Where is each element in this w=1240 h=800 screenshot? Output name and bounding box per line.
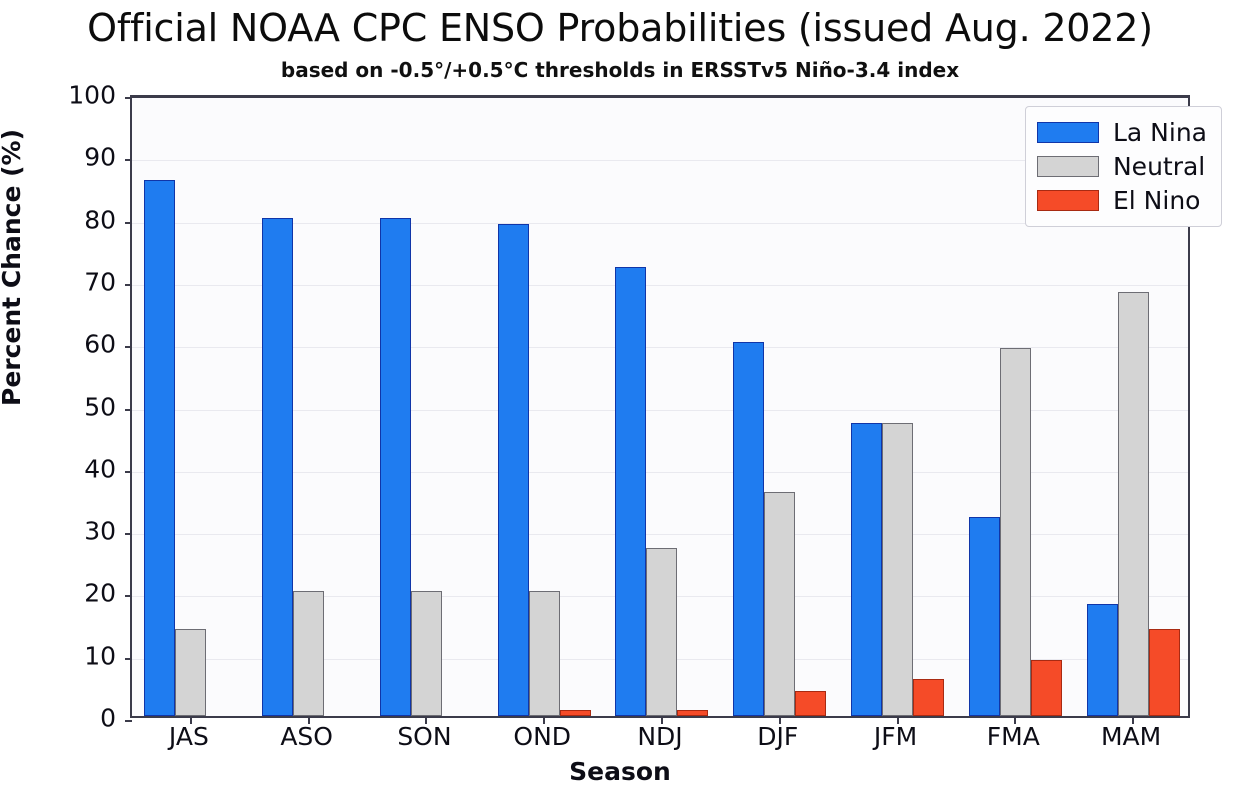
- bar-lanina-djf: [733, 342, 764, 716]
- y-tick-label: 50: [84, 392, 116, 421]
- bar-neutral-jas: [175, 629, 206, 716]
- x-axis-tick-labels: JASASOSONONDNDJDJFJFMFMAMAM: [130, 722, 1190, 762]
- y-tick-label: 10: [84, 641, 116, 670]
- x-tick-label-jfm: JFM: [874, 722, 917, 751]
- legend-item-neutral[interactable]: Neutral: [1037, 149, 1207, 183]
- bar-group: [368, 98, 486, 716]
- bar-neutral-aso: [293, 591, 324, 716]
- legend-label-lanina: La Nina: [1113, 118, 1207, 147]
- legend-item-lanina[interactable]: La Nina: [1037, 115, 1207, 149]
- bar-lanina-aso: [262, 218, 293, 716]
- bar-neutral-djf: [764, 492, 795, 716]
- y-tick: [125, 97, 132, 99]
- bar-neutral-ond: [529, 591, 560, 716]
- x-tick-label-son: SON: [397, 722, 451, 751]
- y-tick-label: 80: [84, 205, 116, 234]
- x-tick-label-ond: OND: [513, 722, 571, 751]
- y-tick-label: 70: [84, 267, 116, 296]
- legend-label-neutral: Neutral: [1113, 152, 1205, 181]
- legend-item-elnino[interactable]: El Nino: [1037, 183, 1207, 217]
- y-tick-label: 100: [68, 81, 116, 110]
- y-tick-label: 20: [84, 579, 116, 608]
- bar-group: [603, 98, 721, 716]
- bar-group: [485, 98, 603, 716]
- y-axis-title: Percent Chance (%): [0, 129, 26, 406]
- bar-lanina-son: [380, 218, 411, 716]
- y-tick: [125, 222, 132, 224]
- enso-probabilities-figure: Official NOAA CPC ENSO Probabilities (is…: [0, 0, 1240, 800]
- x-tick-label-aso: ASO: [280, 722, 333, 751]
- x-tick-label-mam: MAM: [1101, 722, 1161, 751]
- y-tick: [125, 658, 132, 660]
- x-tick-label-ndj: NDJ: [637, 722, 682, 751]
- x-tick-label-jas: JAS: [169, 722, 209, 751]
- legend-swatch-elnino: [1037, 190, 1099, 211]
- y-tick-label: 0: [100, 704, 116, 733]
- bar-group: [839, 98, 957, 716]
- legend-label-elnino: El Nino: [1113, 186, 1200, 215]
- chart-title: Official NOAA CPC ENSO Probabilities (is…: [0, 6, 1240, 50]
- bar-neutral-fma: [1000, 348, 1031, 716]
- y-tick-label: 90: [84, 143, 116, 172]
- y-tick: [125, 471, 132, 473]
- bar-lanina-jfm: [851, 423, 882, 716]
- y-tick-label: 30: [84, 517, 116, 546]
- bar-group: [721, 98, 839, 716]
- bar-neutral-ndj: [646, 548, 677, 716]
- y-tick: [125, 409, 132, 411]
- bar-lanina-fma: [969, 517, 1000, 716]
- bar-neutral-jfm: [882, 423, 913, 716]
- legend-swatch-neutral: [1037, 156, 1099, 177]
- y-tick: [125, 346, 132, 348]
- x-tick-label-fma: FMA: [987, 722, 1040, 751]
- bar-group: [132, 98, 250, 716]
- y-tick-label: 40: [84, 454, 116, 483]
- y-tick: [125, 533, 132, 535]
- x-axis-title: Season: [0, 757, 1240, 786]
- bar-elnino-djf: [795, 691, 826, 716]
- x-tick-label-djf: DJF: [757, 722, 798, 751]
- y-tick-label: 60: [84, 330, 116, 359]
- chart-subtitle: based on -0.5°/+0.5°C thresholds in ERSS…: [0, 58, 1240, 82]
- y-tick: [125, 284, 132, 286]
- bar-neutral-mam: [1118, 292, 1149, 716]
- legend-swatch-lanina: [1037, 122, 1099, 143]
- y-tick: [125, 595, 132, 597]
- bar-elnino-mam: [1149, 629, 1180, 716]
- y-tick: [125, 159, 132, 161]
- bar-lanina-ond: [498, 224, 529, 716]
- bar-lanina-ndj: [615, 267, 646, 716]
- bar-neutral-son: [411, 591, 442, 716]
- bar-lanina-jas: [144, 180, 175, 716]
- bar-group: [250, 98, 368, 716]
- legend[interactable]: La NinaNeutralEl Nino: [1025, 106, 1222, 227]
- bar-elnino-jfm: [913, 679, 944, 716]
- bar-elnino-fma: [1031, 660, 1062, 716]
- bar-lanina-mam: [1087, 604, 1118, 716]
